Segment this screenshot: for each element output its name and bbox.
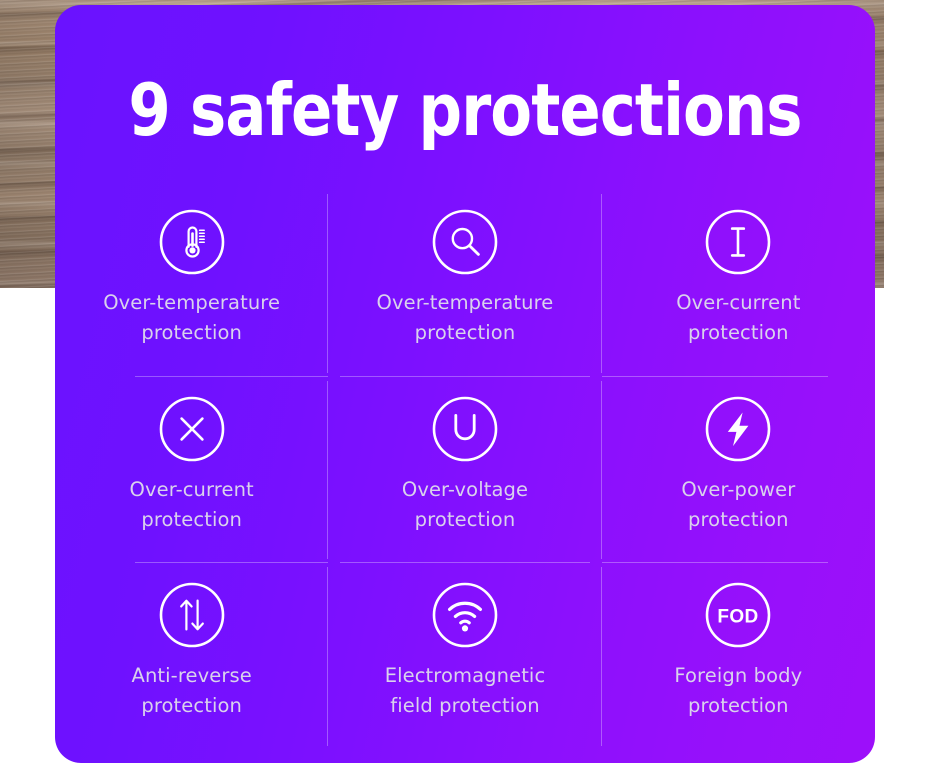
protection-label: Over-current protection <box>676 288 800 348</box>
safety-protections-card: 9 safety protections Over-temperature pr… <box>55 5 875 763</box>
page-background: 9 safety protections Over-temperature pr… <box>0 0 930 769</box>
protection-cell-over-temperature-1[interactable]: Over-temperature protection <box>55 190 328 377</box>
protection-cell-foreign-body[interactable]: FOD Foreign body protection <box>602 563 875 750</box>
protection-cell-over-temperature-2[interactable]: Over-temperature protection <box>328 190 601 377</box>
x-cross-icon <box>157 394 227 464</box>
protection-cell-over-power[interactable]: Over-power protection <box>602 377 875 564</box>
protection-cell-over-current-1[interactable]: Over-current protection <box>602 190 875 377</box>
protection-label: Anti-reverse protection <box>132 661 252 721</box>
protection-label: Foreign body protection <box>674 661 802 721</box>
letter-u-icon <box>430 394 500 464</box>
protection-label: Over-temperature protection <box>377 288 554 348</box>
up-down-arrows-icon <box>157 580 227 650</box>
protection-cell-electromagnetic-field[interactable]: Electromagnetic field protection <box>328 563 601 750</box>
protection-cell-over-current-2[interactable]: Over-current protection <box>55 377 328 564</box>
letter-i-icon <box>703 207 773 277</box>
wifi-waves-icon <box>430 580 500 650</box>
protection-label: Over-power protection <box>681 475 795 535</box>
protection-cell-over-voltage[interactable]: Over-voltage protection <box>328 377 601 564</box>
page-title: 9 safety protections <box>80 67 851 153</box>
protection-cell-anti-reverse[interactable]: Anti-reverse protection <box>55 563 328 750</box>
protections-grid: Over-temperature protection Over-tempera… <box>55 190 875 750</box>
svg-text:FOD: FOD <box>718 607 759 628</box>
fod-text-icon: FOD <box>703 580 773 650</box>
protection-label: Over-voltage protection <box>402 475 528 535</box>
thermometer-icon <box>157 207 227 277</box>
protection-label: Over-temperature protection <box>103 288 280 348</box>
magnifier-icon <box>430 207 500 277</box>
lightning-bolt-icon <box>703 394 773 464</box>
protection-label: Over-current protection <box>130 475 254 535</box>
protection-label: Electromagnetic field protection <box>385 661 546 721</box>
